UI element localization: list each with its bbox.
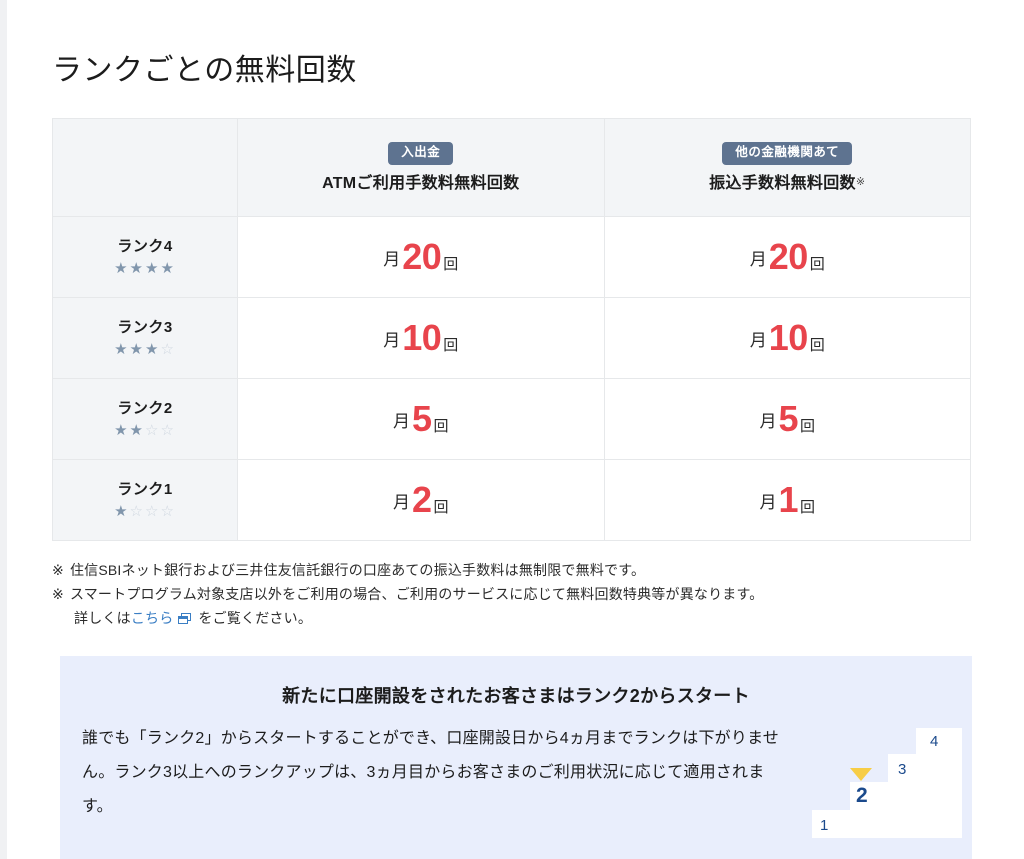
stair-step-4 bbox=[916, 728, 962, 838]
info-box: 新たに口座開設をされたお客さまはランク2からスタート 誰でも「ランク2」からスタ… bbox=[60, 656, 972, 859]
rank-stars: ★★★☆ bbox=[53, 342, 237, 357]
value-prefix: 月 bbox=[759, 412, 776, 431]
value-suffix: 回 bbox=[434, 418, 449, 435]
value-suffix: 回 bbox=[443, 337, 458, 354]
table-row: ランク2 ★★☆☆ 月5回 月5回 bbox=[53, 379, 971, 460]
rank-cell: ランク4 ★★★★ bbox=[53, 217, 238, 298]
value-number: 5 bbox=[778, 398, 798, 439]
rank-label: ランク4 bbox=[53, 238, 237, 256]
down-triangle-marker-icon bbox=[850, 768, 872, 781]
stair-number-2: 2 bbox=[856, 784, 868, 808]
stair-number-4: 4 bbox=[930, 733, 938, 750]
table-row: ランク3 ★★★☆ 月10回 月10回 bbox=[53, 298, 971, 379]
stair-number-1: 1 bbox=[820, 817, 828, 834]
header-cell-transfer: 他の金融機関あて 振込手数料無料回数※ bbox=[604, 119, 971, 217]
star-empty-icon: ☆ bbox=[160, 422, 175, 439]
value-number: 1 bbox=[778, 479, 798, 520]
rank-label: ランク3 bbox=[53, 319, 237, 337]
info-box-body: 誰でも「ランク2」からスタートすることができ、口座開設日から4ヵ月までランクは下… bbox=[82, 722, 792, 824]
stair-number-3: 3 bbox=[898, 761, 906, 778]
header-label-transfer-text: 振込手数料無料回数 bbox=[709, 175, 856, 192]
header-label-transfer: 振込手数料無料回数※ bbox=[605, 174, 971, 193]
star-filled-icon: ★ bbox=[114, 341, 129, 358]
value-prefix: 月 bbox=[393, 493, 410, 512]
star-filled-icon: ★ bbox=[130, 341, 145, 358]
footnote-2: ※スマートプログラム対象支店以外をご利用の場合、ご利用のサービスに応じて無料回数… bbox=[52, 582, 972, 606]
rank-stars: ★★★★ bbox=[53, 261, 237, 276]
star-empty-icon: ☆ bbox=[130, 503, 145, 520]
rank-stars: ★☆☆☆ bbox=[53, 504, 237, 519]
value-prefix: 月 bbox=[393, 412, 410, 431]
value-prefix: 月 bbox=[759, 493, 776, 512]
table-header: 入出金 ATMご利用手数料無料回数 他の金融機関あて 振込手数料無料回数※ bbox=[53, 119, 971, 217]
footnote-2-suffix: をご覧ください。 bbox=[198, 610, 312, 626]
value-cell-transfer: 月20回 bbox=[604, 217, 971, 298]
star-filled-icon: ★ bbox=[114, 260, 129, 277]
footnotes: ※住信SBIネット銀行および三井住友信託銀行の口座あての振込手数料は無制限で無料… bbox=[52, 558, 972, 630]
value-cell-atm: 月5回 bbox=[238, 379, 605, 460]
value-suffix: 回 bbox=[810, 337, 825, 354]
page-content: ランクごとの無料回数 入出金 ATMご利用手数料無料回数 他の金融機関あて bbox=[8, 0, 1024, 859]
rank-fee-table: 入出金 ATMご利用手数料無料回数 他の金融機関あて 振込手数料無料回数※ bbox=[52, 118, 971, 541]
info-box-title: 新たに口座開設をされたお客さまはランク2からスタート bbox=[60, 682, 972, 708]
value-suffix: 回 bbox=[810, 256, 825, 273]
rank-cell: ランク2 ★★☆☆ bbox=[53, 379, 238, 460]
footnote-mark: ※ bbox=[52, 562, 64, 578]
star-filled-icon: ★ bbox=[160, 260, 175, 277]
value-number: 2 bbox=[412, 479, 432, 520]
star-empty-icon: ☆ bbox=[145, 422, 160, 439]
star-empty-icon: ☆ bbox=[160, 503, 175, 520]
page-root: ランクごとの無料回数 入出金 ATMご利用手数料無料回数 他の金融機関あて bbox=[0, 0, 1024, 859]
footnote-1-text: 住信SBIネット銀行および三井住友信託銀行の口座あての振込手数料は無制限で無料で… bbox=[70, 562, 645, 578]
footnote-2-detail: 詳しくはこちらをご覧ください。 bbox=[52, 606, 972, 630]
value-number: 10 bbox=[769, 317, 808, 358]
value-cell-atm: 月10回 bbox=[238, 298, 605, 379]
rank-stars: ★★☆☆ bbox=[53, 423, 237, 438]
star-empty-icon: ☆ bbox=[145, 503, 160, 520]
rank-label: ランク1 bbox=[53, 481, 237, 499]
value-number: 5 bbox=[412, 398, 432, 439]
header-label-transfer-mark: ※ bbox=[856, 176, 866, 188]
value-number: 20 bbox=[402, 236, 441, 277]
value-prefix: 月 bbox=[750, 331, 767, 350]
star-filled-icon: ★ bbox=[145, 341, 160, 358]
rank-staircase-graphic: 1 2 3 4 bbox=[812, 728, 962, 838]
footnote-2-text: スマートプログラム対象支店以外をご利用の場合、ご利用のサービスに応じて無料回数特… bbox=[70, 586, 764, 602]
value-number: 20 bbox=[769, 236, 808, 277]
header-cell-rank bbox=[53, 119, 238, 217]
table-row: ランク4 ★★★★ 月20回 月20回 bbox=[53, 217, 971, 298]
header-cell-atm: 入出金 ATMご利用手数料無料回数 bbox=[238, 119, 605, 217]
value-number: 10 bbox=[402, 317, 441, 358]
footnote-mark: ※ bbox=[52, 586, 64, 602]
value-prefix: 月 bbox=[383, 250, 400, 269]
value-suffix: 回 bbox=[434, 499, 449, 516]
footnote-1: ※住信SBIネット銀行および三井住友信託銀行の口座あての振込手数料は無制限で無料… bbox=[52, 558, 972, 582]
value-cell-atm: 月20回 bbox=[238, 217, 605, 298]
value-suffix: 回 bbox=[800, 499, 815, 516]
badge-atm: 入出金 bbox=[388, 142, 453, 165]
external-window-icon[interactable] bbox=[178, 613, 191, 624]
star-empty-icon: ☆ bbox=[160, 341, 175, 358]
value-cell-transfer: 月1回 bbox=[604, 460, 971, 541]
star-filled-icon: ★ bbox=[114, 422, 129, 439]
value-suffix: 回 bbox=[800, 418, 815, 435]
star-filled-icon: ★ bbox=[130, 260, 145, 277]
footnote-2-prefix: 詳しくは bbox=[74, 610, 131, 626]
page-title: ランクごとの無料回数 bbox=[52, 51, 357, 90]
details-link[interactable]: こちら bbox=[131, 610, 174, 626]
table-body: ランク4 ★★★★ 月20回 月20回 ランク3 ★★★☆ bbox=[53, 217, 971, 541]
value-cell-atm: 月2回 bbox=[238, 460, 605, 541]
rank-label: ランク2 bbox=[53, 400, 237, 418]
star-filled-icon: ★ bbox=[114, 503, 129, 520]
table-header-row: 入出金 ATMご利用手数料無料回数 他の金融機関あて 振込手数料無料回数※ bbox=[53, 119, 971, 217]
left-rail bbox=[0, 0, 7, 859]
header-label-atm-text: ATMご利用手数料無料回数 bbox=[322, 175, 519, 192]
star-filled-icon: ★ bbox=[145, 260, 160, 277]
value-prefix: 月 bbox=[383, 331, 400, 350]
value-suffix: 回 bbox=[443, 256, 458, 273]
rank-cell: ランク3 ★★★☆ bbox=[53, 298, 238, 379]
value-cell-transfer: 月10回 bbox=[604, 298, 971, 379]
value-cell-transfer: 月5回 bbox=[604, 379, 971, 460]
table-row: ランク1 ★☆☆☆ 月2回 月1回 bbox=[53, 460, 971, 541]
rank-cell: ランク1 ★☆☆☆ bbox=[53, 460, 238, 541]
star-filled-icon: ★ bbox=[130, 422, 145, 439]
header-label-atm: ATMご利用手数料無料回数 bbox=[238, 174, 604, 193]
badge-transfer: 他の金融機関あて bbox=[722, 142, 852, 165]
value-prefix: 月 bbox=[750, 250, 767, 269]
